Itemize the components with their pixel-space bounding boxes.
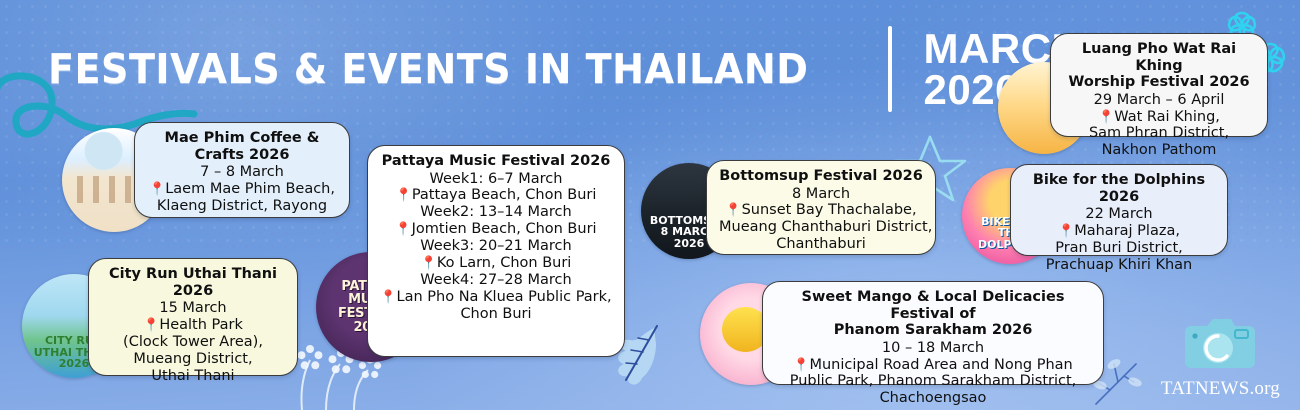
event-week-1-date: Week1: 6–7 March	[380, 171, 612, 188]
title-divider	[888, 26, 892, 112]
event-venue-line: 📍Wat Rai Khing,	[1063, 109, 1255, 126]
page-title: FESTIVALS & EVENTS IN THAILAND	[48, 45, 808, 93]
camera-icon	[1183, 316, 1257, 372]
event-title: Luang Pho Wat Rai Khing Worship Festival…	[1063, 41, 1255, 91]
location-pin-icon: 📍	[143, 318, 159, 333]
event-card-bike-for-the-dolphins[interactable]: Bike for the Dolphins 2026 22 March 📍Mah…	[1010, 164, 1228, 256]
event-week-3-venue: 📍Ko Larn, Chon Buri	[380, 255, 612, 272]
event-title: Sweet Mango & Local Delicacies Festival …	[775, 289, 1091, 339]
event-venue-line: Sam Phran District,	[1063, 125, 1255, 142]
venue-text: Health Park	[159, 317, 243, 333]
event-title: Bike for the Dolphins 2026	[1023, 172, 1215, 205]
event-title-line-2: Worship Festival 2026	[1068, 74, 1249, 90]
event-week-4-date: Week4: 27–28 March	[380, 272, 612, 289]
location-pin-icon: 📍	[395, 222, 411, 237]
event-card-pattaya-music-festival[interactable]: Pattaya Music Festival 2026 Week1: 6–7 M…	[367, 145, 625, 357]
event-title-line-1: Luang Pho Wat Rai Khing	[1082, 41, 1236, 74]
location-pin-icon: 📍	[725, 203, 741, 218]
event-venue-line: 📍Sunset Bay Thachalabe,	[719, 202, 923, 219]
location-pin-icon: 📍	[793, 358, 809, 373]
location-pin-icon: 📍	[1098, 110, 1114, 125]
venue-text: Laem Mae Phim Beach,	[165, 181, 335, 197]
event-card-sweet-mango-phanom-sarakham[interactable]: Sweet Mango & Local Delicacies Festival …	[762, 281, 1104, 385]
venue-text: Pattaya Beach, Chon Buri	[412, 187, 597, 203]
event-venue-line: 📍Laem Mae Phim Beach,	[147, 181, 337, 198]
location-pin-icon: 📍	[380, 290, 396, 305]
watermark: TATNEWS.org	[1161, 316, 1280, 400]
event-title: City Run Uthai Thani 2026	[101, 266, 285, 299]
event-venue-line: Klaeng District, Rayong	[147, 198, 337, 215]
event-venue-line: Prachuap Khiri Khan	[1023, 257, 1215, 274]
event-card-bottomsup-festival[interactable]: Bottomsup Festival 2026 8 March 📍Sunset …	[706, 160, 936, 255]
event-date: 7 – 8 March	[147, 164, 337, 181]
event-date: 22 March	[1023, 206, 1215, 223]
event-venue-line: Mueang District,	[101, 351, 285, 368]
venue-text: Ko Larn, Chon Buri	[437, 255, 571, 271]
event-title-line-1: Sweet Mango & Local Delicacies Festival …	[802, 289, 1065, 322]
venue-text: Lan Pho Na Kluea Public Park, Chon Buri	[397, 289, 612, 322]
event-venue-line: (Clock Tower Area),	[101, 334, 285, 351]
event-title-line-2: Phanom Sarakham 2026	[834, 322, 1033, 338]
event-date: 29 March – 6 April	[1063, 92, 1255, 109]
event-venue-line: 📍Health Park	[101, 317, 285, 334]
event-venue-line: Chanthaburi	[719, 236, 923, 253]
event-venue-line: Pran Buri District,	[1023, 240, 1215, 257]
event-venue-line: Uthai Thani	[101, 368, 285, 385]
location-pin-icon: 📍	[1058, 224, 1074, 239]
venue-text: Jomtien Beach, Chon Buri	[412, 221, 597, 237]
event-venue-line: Public Park, Phanom Sarakham District,	[775, 373, 1091, 390]
event-title: Bottomsup Festival 2026	[719, 168, 923, 185]
event-date: 8 March	[719, 186, 923, 203]
event-venue-line: 📍Maharaj Plaza,	[1023, 223, 1215, 240]
venue-text: Municipal Road Area and Nong Phan	[809, 357, 1072, 373]
event-week-4-venue: 📍Lan Pho Na Kluea Public Park, Chon Buri	[380, 289, 612, 323]
location-pin-icon: 📍	[421, 256, 437, 271]
poster-header: FESTIVALS & EVENTS IN THAILAND MARCH 202…	[48, 26, 1082, 112]
watermark-label: TATNEWS.org	[1161, 378, 1280, 400]
event-title: Pattaya Music Festival 2026	[380, 153, 612, 170]
event-card-city-run-uthai-thani[interactable]: City Run Uthai Thani 2026 15 March 📍Heal…	[88, 258, 298, 376]
event-week-3-date: Week3: 20–21 March	[380, 238, 612, 255]
venue-text: Maharaj Plaza,	[1074, 223, 1180, 239]
location-pin-icon: 📍	[396, 188, 412, 203]
event-date: 10 – 18 March	[775, 340, 1091, 357]
venue-text: Wat Rai Khing,	[1114, 109, 1220, 125]
event-card-mae-phim-coffee-crafts[interactable]: Mae Phim Coffee & Crafts 2026 7 – 8 Marc…	[134, 122, 350, 218]
event-week-2-venue: 📍Jomtien Beach, Chon Buri	[380, 221, 612, 238]
event-card-luang-pho-wat-rai-khing[interactable]: Luang Pho Wat Rai Khing Worship Festival…	[1050, 33, 1268, 137]
event-week-1-venue: 📍Pattaya Beach, Chon Buri	[380, 187, 612, 204]
event-title: Mae Phim Coffee & Crafts 2026	[147, 130, 337, 163]
event-venue-line: Nakhon Pathom	[1063, 142, 1255, 159]
venue-text: Sunset Bay Thachalabe,	[742, 202, 917, 218]
event-venue-line: 📍Municipal Road Area and Nong Phan	[775, 357, 1091, 374]
event-date: 15 March	[101, 300, 285, 317]
event-venue-line: Mueang Chanthaburi District,	[719, 219, 923, 236]
location-pin-icon: 📍	[149, 182, 165, 197]
event-venue-line: Chachoengsao	[775, 390, 1091, 407]
event-week-2-date: Week2: 13–14 March	[380, 204, 612, 221]
poster-canvas: FESTIVALS & EVENTS IN THAILAND MARCH 202…	[0, 0, 1300, 410]
